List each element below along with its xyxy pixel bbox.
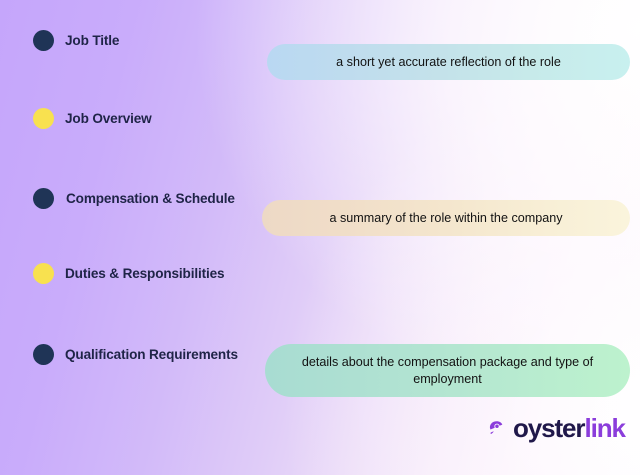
section-row-compensation-schedule: Compensation & Schedule details about th…: [0, 172, 640, 225]
section-label: Job Overview: [65, 111, 152, 126]
section-label: Job Title: [65, 33, 119, 48]
section-row-duties-responsibilities: Duties & Responsibilities list of primar…: [0, 255, 640, 292]
section-row-qualification-requirements: Qualification Requirements Expertise, sk…: [0, 328, 640, 381]
section-description-text: a short yet accurate reflection of the r…: [281, 54, 616, 71]
bullet-dot-navy: [33, 30, 54, 51]
job-description-sections-list: Job Title a short yet accurate reflectio…: [0, 0, 640, 475]
bullet-dot-yellow: [33, 108, 54, 129]
section-row-job-overview: Job Overview a summary of the role withi…: [0, 100, 640, 137]
section-description-pill: a short yet accurate reflection of the r…: [267, 44, 630, 80]
section-label-group: Qualification Requirements: [0, 328, 262, 381]
section-label-group: Compensation & Schedule: [0, 172, 262, 225]
section-label-group: Duties & Responsibilities: [0, 255, 262, 292]
section-label-group: Job Overview: [0, 100, 262, 137]
bullet-dot-yellow: [33, 263, 54, 284]
section-label-group: Job Title: [0, 22, 262, 59]
section-label: Compensation & Schedule: [66, 191, 235, 206]
section-row-job-title: Job Title a short yet accurate reflectio…: [0, 22, 640, 59]
section-label: Duties & Responsibilities: [65, 266, 224, 281]
logo-word-link: link: [584, 415, 624, 441]
logo-word-oyster: oyster: [513, 415, 584, 441]
oyster-pearl-icon: [487, 418, 508, 439]
bullet-dot-navy: [33, 188, 54, 209]
bullet-dot-navy: [33, 344, 54, 365]
brand-logo: oyster link: [487, 411, 625, 445]
section-label: Qualification Requirements: [65, 347, 238, 362]
infographic-canvas: Job Title a short yet accurate reflectio…: [0, 0, 640, 475]
